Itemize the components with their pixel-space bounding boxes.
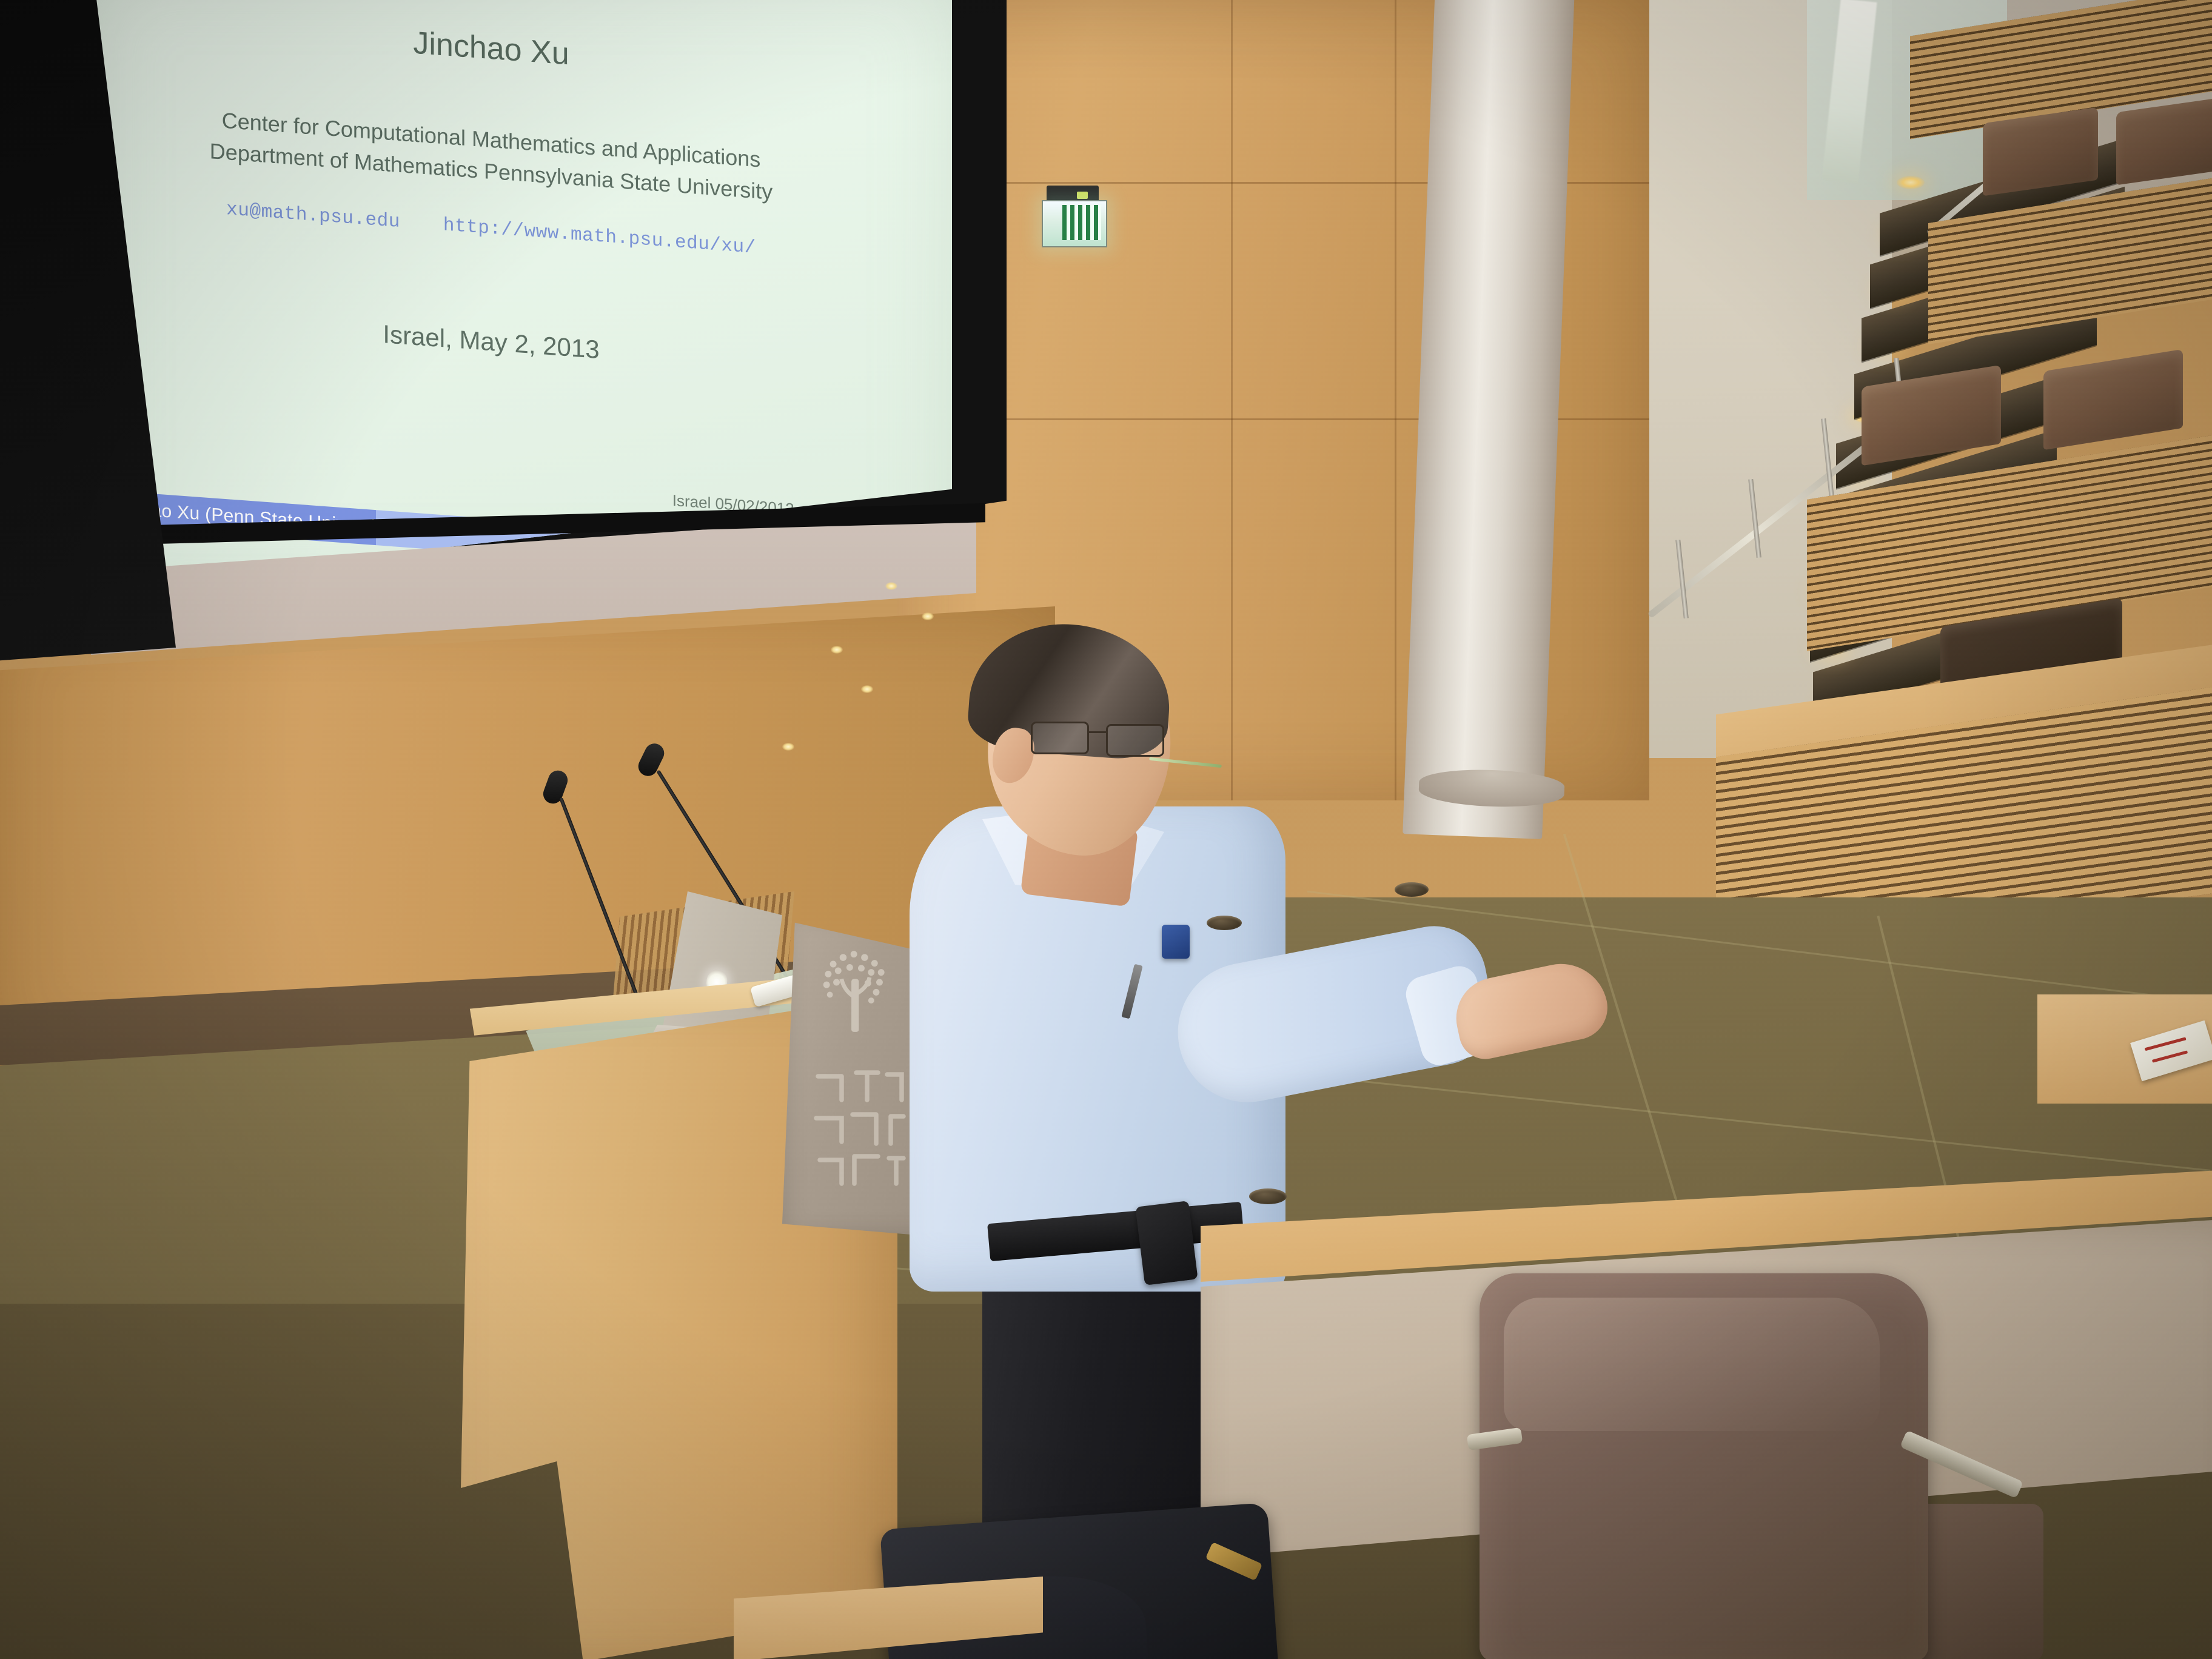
- tree-emblem-icon: [816, 946, 900, 1037]
- seating-tier: [1910, 0, 2212, 121]
- slide-author: Jinchao Xu: [91, 1, 891, 96]
- exit-sign-led: [1077, 192, 1088, 199]
- cable-grommet: [1207, 916, 1242, 930]
- wireless-mic-pack: [1135, 1201, 1198, 1285]
- hebrew-inscription-icon: [803, 1055, 913, 1207]
- slide-content: p-Laplacian Jinchao Xu Center for Comput…: [91, 0, 891, 581]
- cable-grommet: [1249, 1188, 1287, 1204]
- slide-email: xu@math.psu.edu: [226, 199, 400, 233]
- eyeglasses-icon: [1031, 722, 1164, 757]
- screen-surface: p-Laplacian Jinchao Xu Center for Comput…: [91, 0, 952, 588]
- chair-highlight: [1504, 1298, 1880, 1431]
- wall-seam-vertical: [1395, 0, 1396, 800]
- slide-venue-date: Israel, May 2, 2013: [91, 298, 891, 386]
- lecture-hall-photo: p-Laplacian Jinchao Xu Center for Comput…: [0, 0, 2212, 1659]
- seating-tier: [1807, 449, 2212, 618]
- slide-website: http://www.math.psu.edu/xu/: [443, 215, 756, 259]
- wall-seam-vertical: [1231, 0, 1233, 800]
- blue-cable-cap[interactable]: [1162, 925, 1190, 959]
- exit-icon: [1062, 205, 1101, 240]
- slide-title: p-Laplacian: [91, 0, 891, 1]
- cable-grommet: [1395, 882, 1429, 897]
- seating-tier: [1928, 182, 2212, 321]
